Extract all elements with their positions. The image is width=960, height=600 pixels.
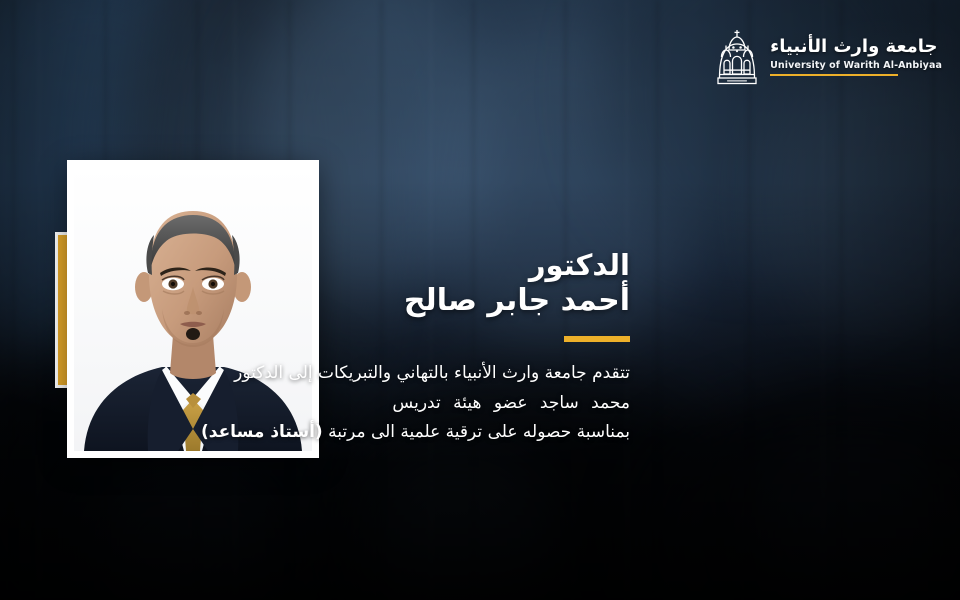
message-line-3: بمناسبة حصوله على ترقية علمية الى مرتبة …	[60, 418, 630, 448]
brand-text-block: جامعة وارث الأنبياء University of Warith…	[770, 38, 942, 77]
message-line-3-prefix: بمناسبة حصوله على ترقية علمية الى مرتبة	[323, 422, 630, 442]
promotion-rank-emphasis: (أستاذ مساعد)	[201, 422, 323, 442]
brand-name-english: University of Warith Al-Anbiyaa	[770, 61, 942, 71]
message-line-1: تتقدم جامعة وارث الأنبياء بالتهاني والتب…	[60, 359, 630, 389]
congratulation-card: جامعة وارث الأنبياء University of Warith…	[0, 0, 960, 600]
message-body: تتقدم جامعة وارث الأنبياء بالتهاني والتب…	[60, 359, 630, 448]
message-line-2: محمد ساجد عضو هيئة تدريس	[60, 389, 630, 419]
brand-lockup: جامعة وارث الأنبياء University of Warith…	[714, 28, 942, 86]
headline-lead: الدكتور	[60, 248, 630, 283]
page-title: الدكتور أحمد جابر صالح	[60, 248, 630, 320]
brand-name-arabic: جامعة وارث الأنبياء	[770, 38, 937, 56]
honoree-name: أحمد جابر صالح	[60, 283, 630, 320]
message-block: الدكتور أحمد جابر صالح تتقدم جامعة وارث …	[60, 248, 630, 448]
university-shrine-emblem-icon	[714, 28, 760, 86]
gold-divider	[564, 336, 630, 342]
brand-gold-underline	[770, 74, 898, 76]
